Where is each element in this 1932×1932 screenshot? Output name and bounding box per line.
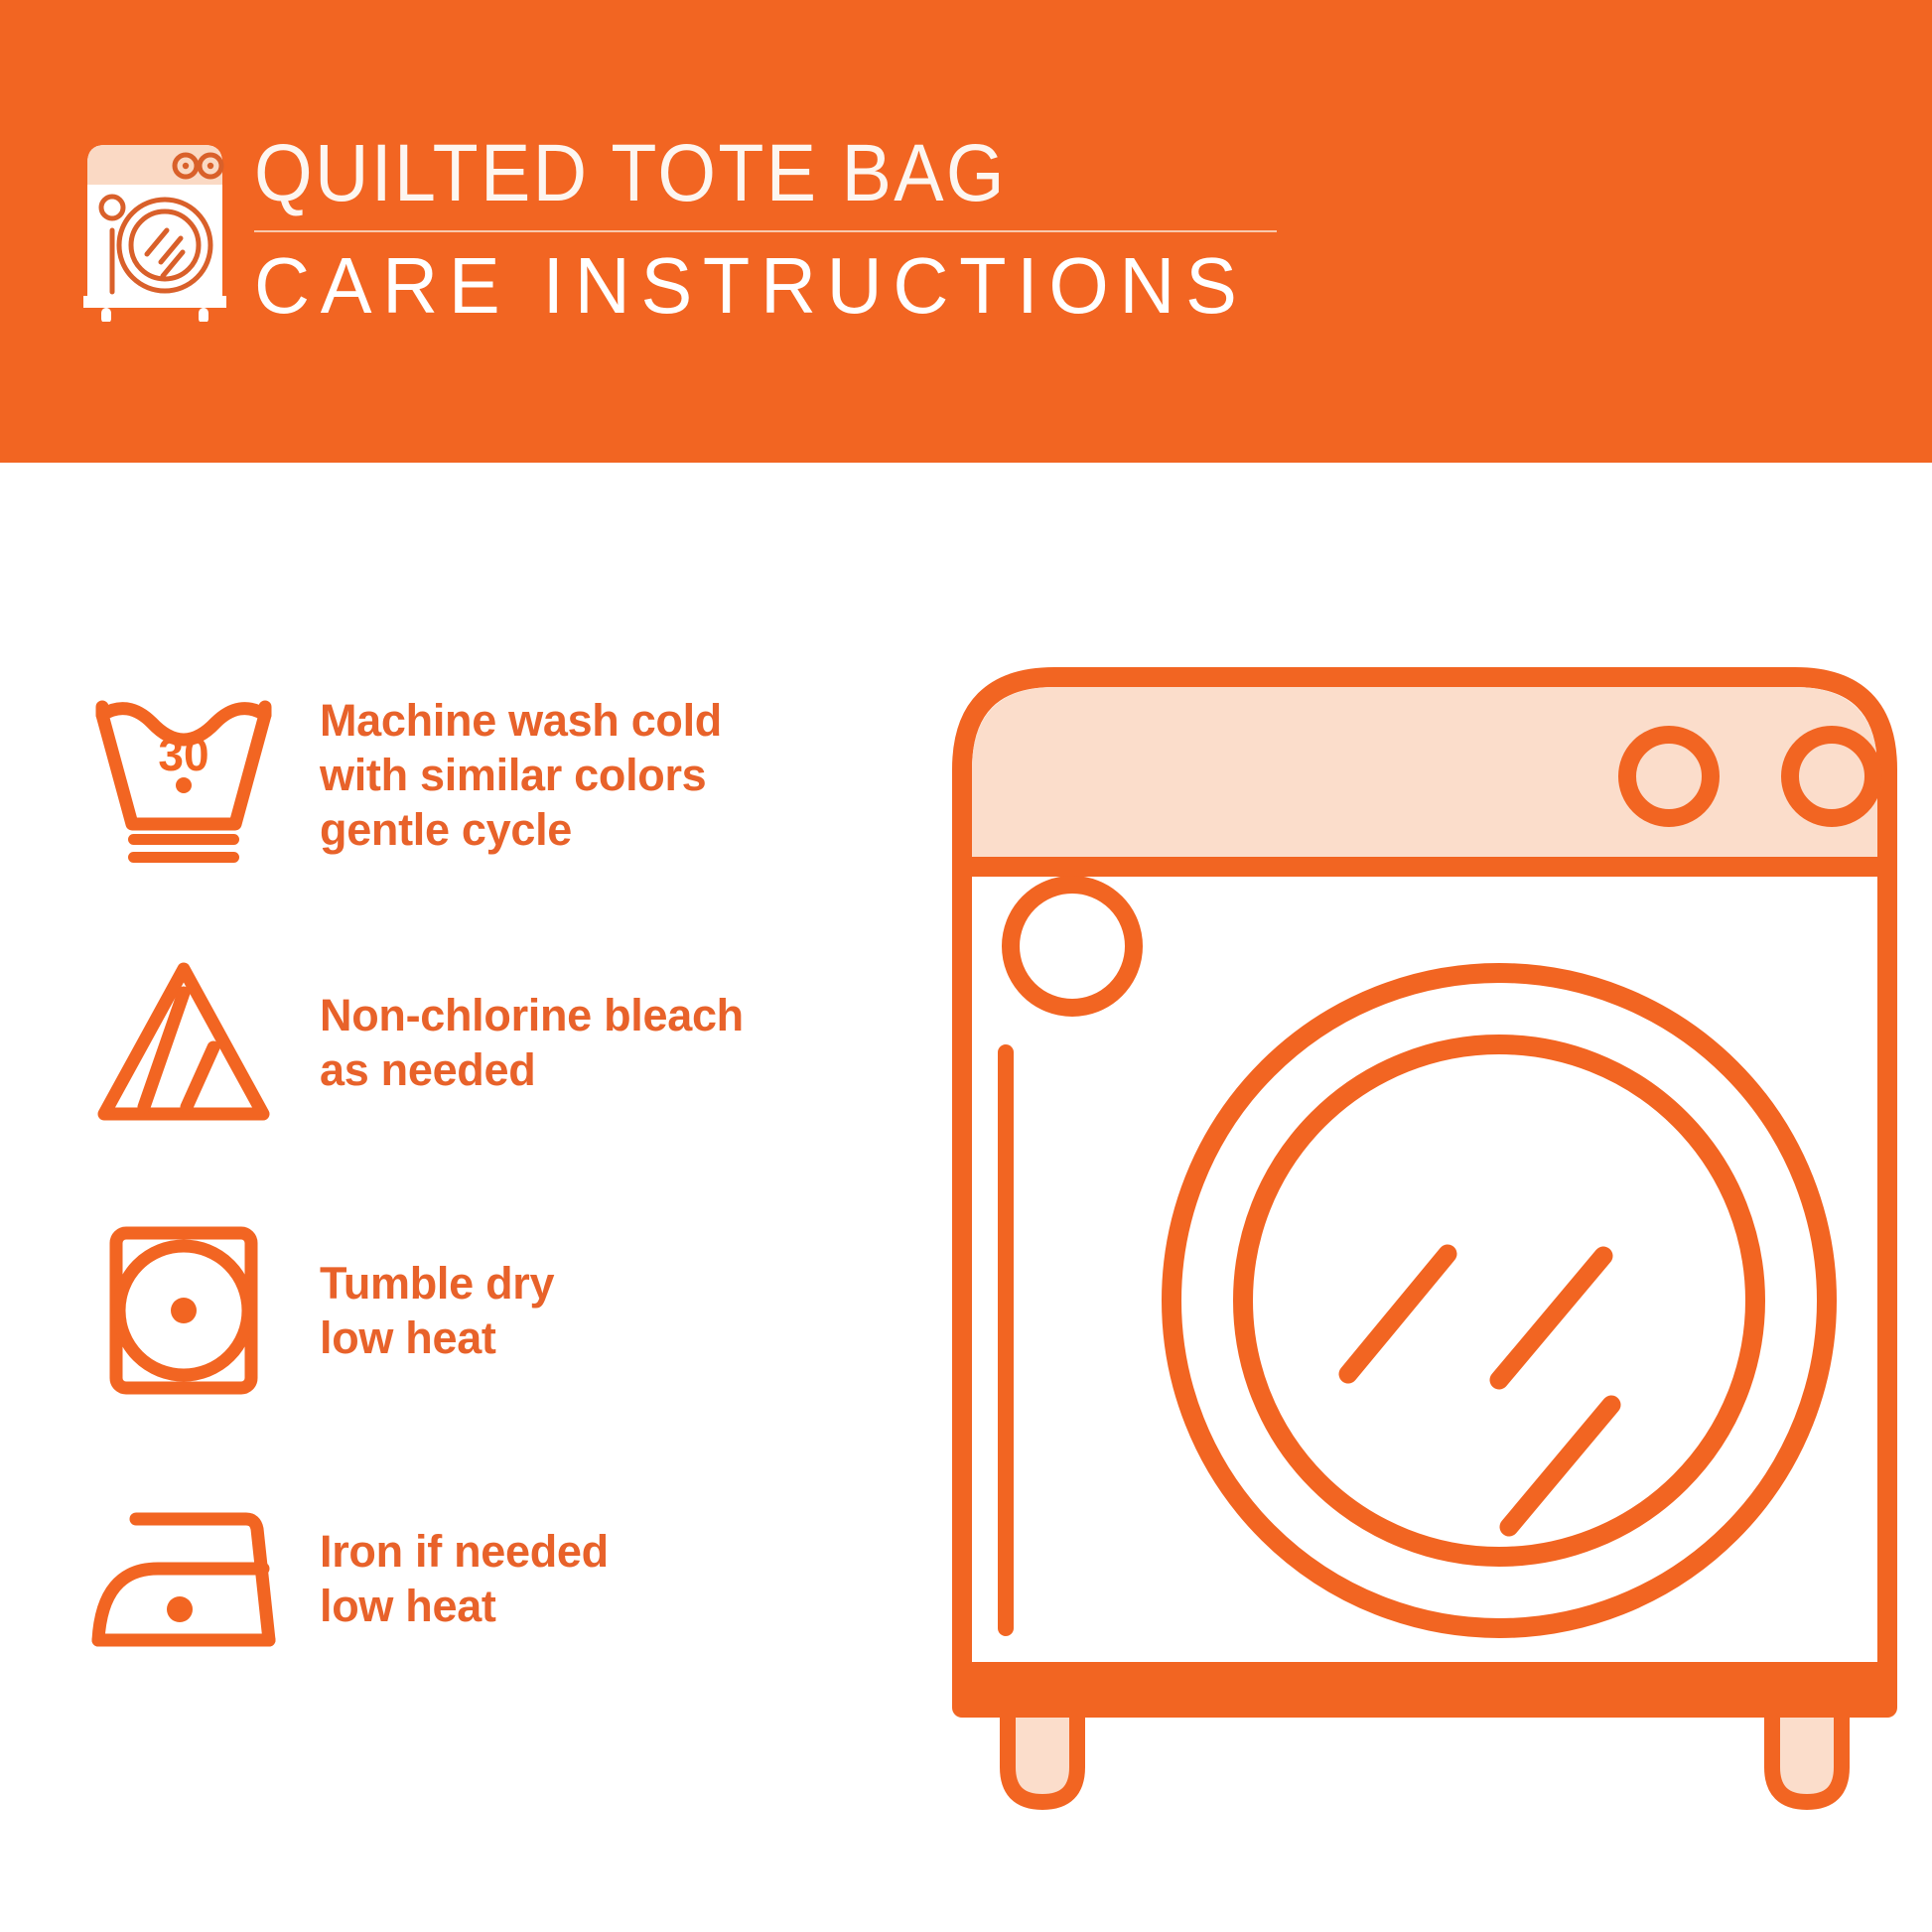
knob-left xyxy=(1627,735,1711,818)
care-line: Iron if needed xyxy=(320,1524,953,1579)
control-panel xyxy=(972,687,1877,867)
page-title: QUILTED TOTE BAG xyxy=(254,131,1196,216)
page-subtitle: CARE INSTRUCTIONS xyxy=(254,242,1248,330)
header-banner: QUILTED TOTE BAG CARE INSTRUCTIONS xyxy=(0,0,1932,463)
non-chlorine-bleach-triangle-icon xyxy=(69,953,298,1132)
care-row-machine-wash: 30 Machine wash cold with similar colors… xyxy=(0,665,953,884)
care-label-bleach: Non-chlorine bleach as needed xyxy=(320,988,953,1097)
washer-base-bar xyxy=(962,1658,1887,1708)
care-label-iron: Iron if needed low heat xyxy=(320,1524,953,1633)
header-content: QUILTED TOTE BAG CARE INSTRUCTIONS xyxy=(81,127,1279,330)
knob-right xyxy=(1790,735,1873,818)
care-line: Tumble dry xyxy=(320,1256,953,1311)
care-line: Non-chlorine bleach xyxy=(320,988,953,1042)
header-titles: QUILTED TOTE BAG CARE INSTRUCTIONS xyxy=(254,127,1279,330)
front-load-washing-machine-illustration xyxy=(948,625,1901,1906)
washing-machine-logo-icon xyxy=(81,127,228,322)
care-label-tumble-dry: Tumble dry low heat xyxy=(320,1256,953,1365)
care-row-bleach: Non-chlorine bleach as needed xyxy=(0,933,953,1152)
care-line: with similar colors xyxy=(320,748,953,802)
care-row-iron: Iron if needed low heat xyxy=(0,1469,953,1688)
care-line: low heat xyxy=(320,1311,953,1365)
care-line: Machine wash cold xyxy=(320,693,953,748)
care-line: gentle cycle xyxy=(320,802,953,857)
title-divider xyxy=(254,230,1277,232)
care-row-tumble-dry: Tumble dry low heat xyxy=(0,1201,953,1420)
wash-temperature-value: 30 xyxy=(158,729,208,780)
care-label-machine-wash: Machine wash cold with similar colors ge… xyxy=(320,693,953,857)
care-instructions-poster: QUILTED TOTE BAG CARE INSTRUCTIONS 30 xyxy=(0,0,1932,1932)
machine-wash-30-gentle-icon: 30 xyxy=(69,685,298,864)
iron-low-heat-icon xyxy=(69,1489,298,1668)
tumble-dry-low-heat-icon xyxy=(69,1221,298,1400)
care-line: low heat xyxy=(320,1579,953,1633)
care-line: as needed xyxy=(320,1042,953,1097)
